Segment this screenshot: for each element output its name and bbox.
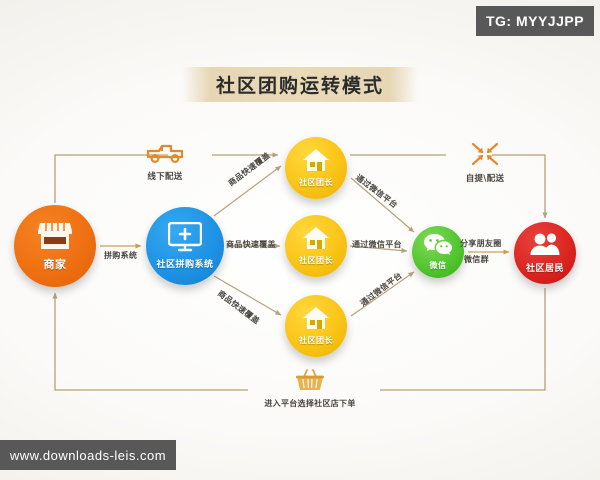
node-leader-top[interactable]: 社区团长	[285, 137, 347, 199]
edge-label-pingou: 拼购系统	[104, 250, 137, 261]
marker-pickup-delivery-caption: 自提\配送	[466, 172, 505, 184]
basket-icon	[295, 368, 325, 396]
truck-icon	[145, 142, 185, 168]
house-icon	[302, 306, 330, 334]
node-merchant[interactable]: 商家	[14, 205, 96, 287]
edge-label-cover-mid: 商品快速覆盖	[226, 239, 276, 250]
monitor-icon	[168, 222, 202, 256]
edge-label-wechat-group: 微信群	[464, 254, 489, 265]
node-wechat[interactable]: 微信	[412, 226, 464, 278]
marker-offline-delivery-caption: 线下配送	[147, 170, 182, 182]
node-leader-bottom[interactable]: 社区团长	[285, 295, 347, 357]
page-title: 社区团购运转模式	[0, 64, 600, 104]
node-wechat-label: 微信	[430, 260, 447, 271]
node-merchant-label: 商家	[44, 256, 67, 272]
node-leader-top-label: 社区团长	[299, 177, 333, 188]
node-resident-label: 社区居民	[526, 261, 564, 274]
site-watermark: www.downloads-leis.com	[0, 440, 176, 470]
people-icon	[529, 232, 561, 260]
shop-icon	[38, 221, 72, 255]
telegram-watermark: TG: MYYJJPP	[476, 6, 594, 36]
node-leader-mid-label: 社区团长	[299, 255, 333, 266]
marker-pickup-delivery: 自提\配送	[430, 142, 540, 184]
marker-place-order: 进入平台选择社区店下单	[240, 368, 380, 409]
converge-arrows-icon	[471, 142, 499, 170]
edge-label-share-moments: 分享朋友圈	[460, 238, 502, 249]
node-resident[interactable]: 社区居民	[514, 222, 576, 284]
node-community-system[interactable]: 社区拼购系统	[146, 207, 224, 285]
node-leader-bottom-label: 社区团长	[299, 335, 333, 346]
title-band: 社区团购运转模式	[182, 67, 418, 102]
marker-offline-delivery: 线下配送	[110, 142, 220, 182]
node-community-system-label: 社区拼购系统	[156, 257, 213, 270]
edge-label-wechat-mid: 通过微信平台	[352, 239, 402, 250]
node-leader-mid[interactable]: 社区团长	[285, 215, 347, 277]
diagram-canvas: 社区团购运转模式 商家 社区拼购系统	[0, 0, 600, 480]
house-icon	[302, 226, 330, 254]
page-title-text: 社区团购运转模式	[216, 71, 384, 98]
house-icon	[302, 148, 330, 176]
marker-place-order-caption: 进入平台选择社区店下单	[264, 398, 355, 409]
wechat-icon	[423, 233, 453, 259]
